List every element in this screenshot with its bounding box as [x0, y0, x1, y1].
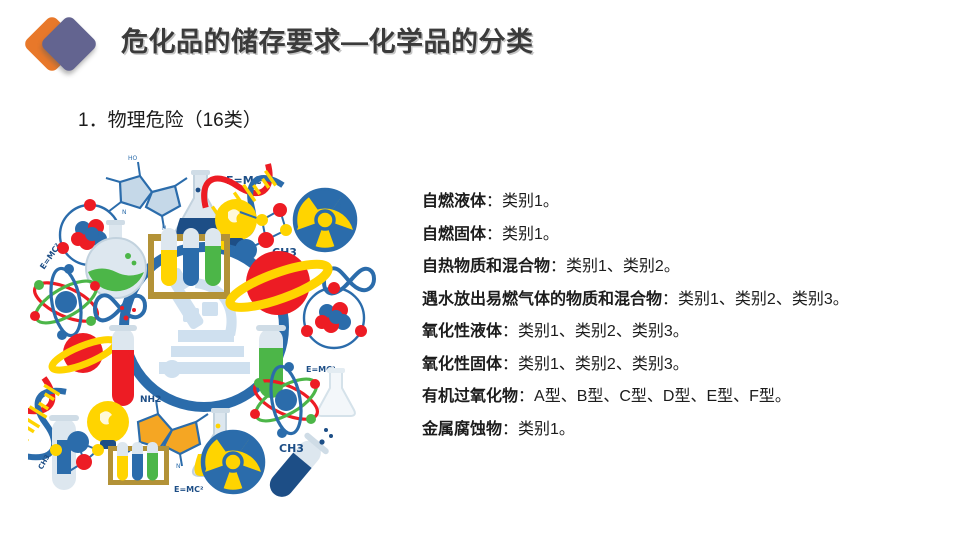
- ch3-label-bottom: CH3: [279, 442, 304, 455]
- list-item: 自热物质和混合物：类别1、类别2。: [422, 251, 942, 284]
- saturn-left-icon: [49, 333, 119, 376]
- molecule-structure-top-icon: [106, 162, 187, 228]
- class-label: 自热物质和混合物: [422, 258, 550, 275]
- test-tube-rack-bottom-icon: [108, 442, 169, 485]
- class-value: ：类别1、类别2、类别3。: [502, 323, 689, 340]
- list-item: 自燃固体：类别1。: [422, 219, 942, 252]
- section-subtitle: 1．物理危险（16类）: [78, 105, 262, 132]
- class-label: 遇水放出易燃气体的物质和混合物: [422, 291, 662, 308]
- class-label: 有机过氧化物: [422, 388, 518, 405]
- class-value: ：类别1。: [486, 226, 559, 243]
- svg-text:N: N: [122, 209, 127, 216]
- flask-outline-right-icon: [317, 368, 355, 416]
- lightbulb-bottom-icon: [87, 401, 129, 449]
- list-item: 有机过氧化物：A型、B型、C型、D型、E型、F型。: [422, 381, 942, 414]
- class-value: ：类别1。: [502, 421, 575, 438]
- class-value: ：类别1、类别2。: [550, 258, 680, 275]
- class-value: ：类别1。: [486, 193, 559, 210]
- emc2-label-left: E=MC²: [38, 241, 63, 271]
- hazard-class-list: 自燃液体：类别1。 自燃固体：类别1。 自热物质和混合物：类别1、类别2。 遇水…: [422, 186, 942, 446]
- class-label: 氧化性固体: [422, 356, 502, 373]
- list-item: 氧化性固体：类别1、类别2、类别3。: [422, 349, 942, 382]
- nh2-label: NH2: [140, 395, 161, 405]
- list-item: 遇水放出易燃气体的物质和混合物：类别1、类别2、类别3。: [422, 284, 942, 317]
- nucleus-atom-right-icon: [301, 282, 367, 348]
- slide-header: 危化品的储存要求—化学品的分类: [0, 0, 960, 84]
- logo-diamond-icon: [28, 14, 114, 74]
- class-label: 金属腐蚀物: [422, 421, 502, 438]
- list-item: 金属腐蚀物：类别1。: [422, 414, 942, 447]
- molecule-label-ho: HO: [128, 155, 138, 162]
- class-value: ：A型、B型、C型、D型、E型、F型。: [518, 388, 791, 405]
- list-item: 自燃液体：类别1。: [422, 186, 942, 219]
- class-value: ：类别1、类别2、类别3。: [662, 291, 849, 308]
- list-item: 氧化性液体：类别1、类别2、类别3。: [422, 316, 942, 349]
- science-collage-illustration: HO N N E=MC² CH3 E=MC²: [28, 150, 380, 500]
- emc2-label-bottom: E=MC²: [174, 485, 204, 494]
- class-label: 氧化性液体: [422, 323, 502, 340]
- page-title: 危化品的储存要求—化学品的分类: [121, 20, 534, 59]
- class-value: ：类别1、类别2、类别3。: [502, 356, 689, 373]
- radiation-icon-bottom: [203, 432, 263, 492]
- class-label: 自燃固体: [422, 226, 486, 243]
- svg-text:N: N: [176, 463, 181, 470]
- class-label: 自燃液体: [422, 193, 486, 210]
- radiation-icon-top: [295, 190, 355, 250]
